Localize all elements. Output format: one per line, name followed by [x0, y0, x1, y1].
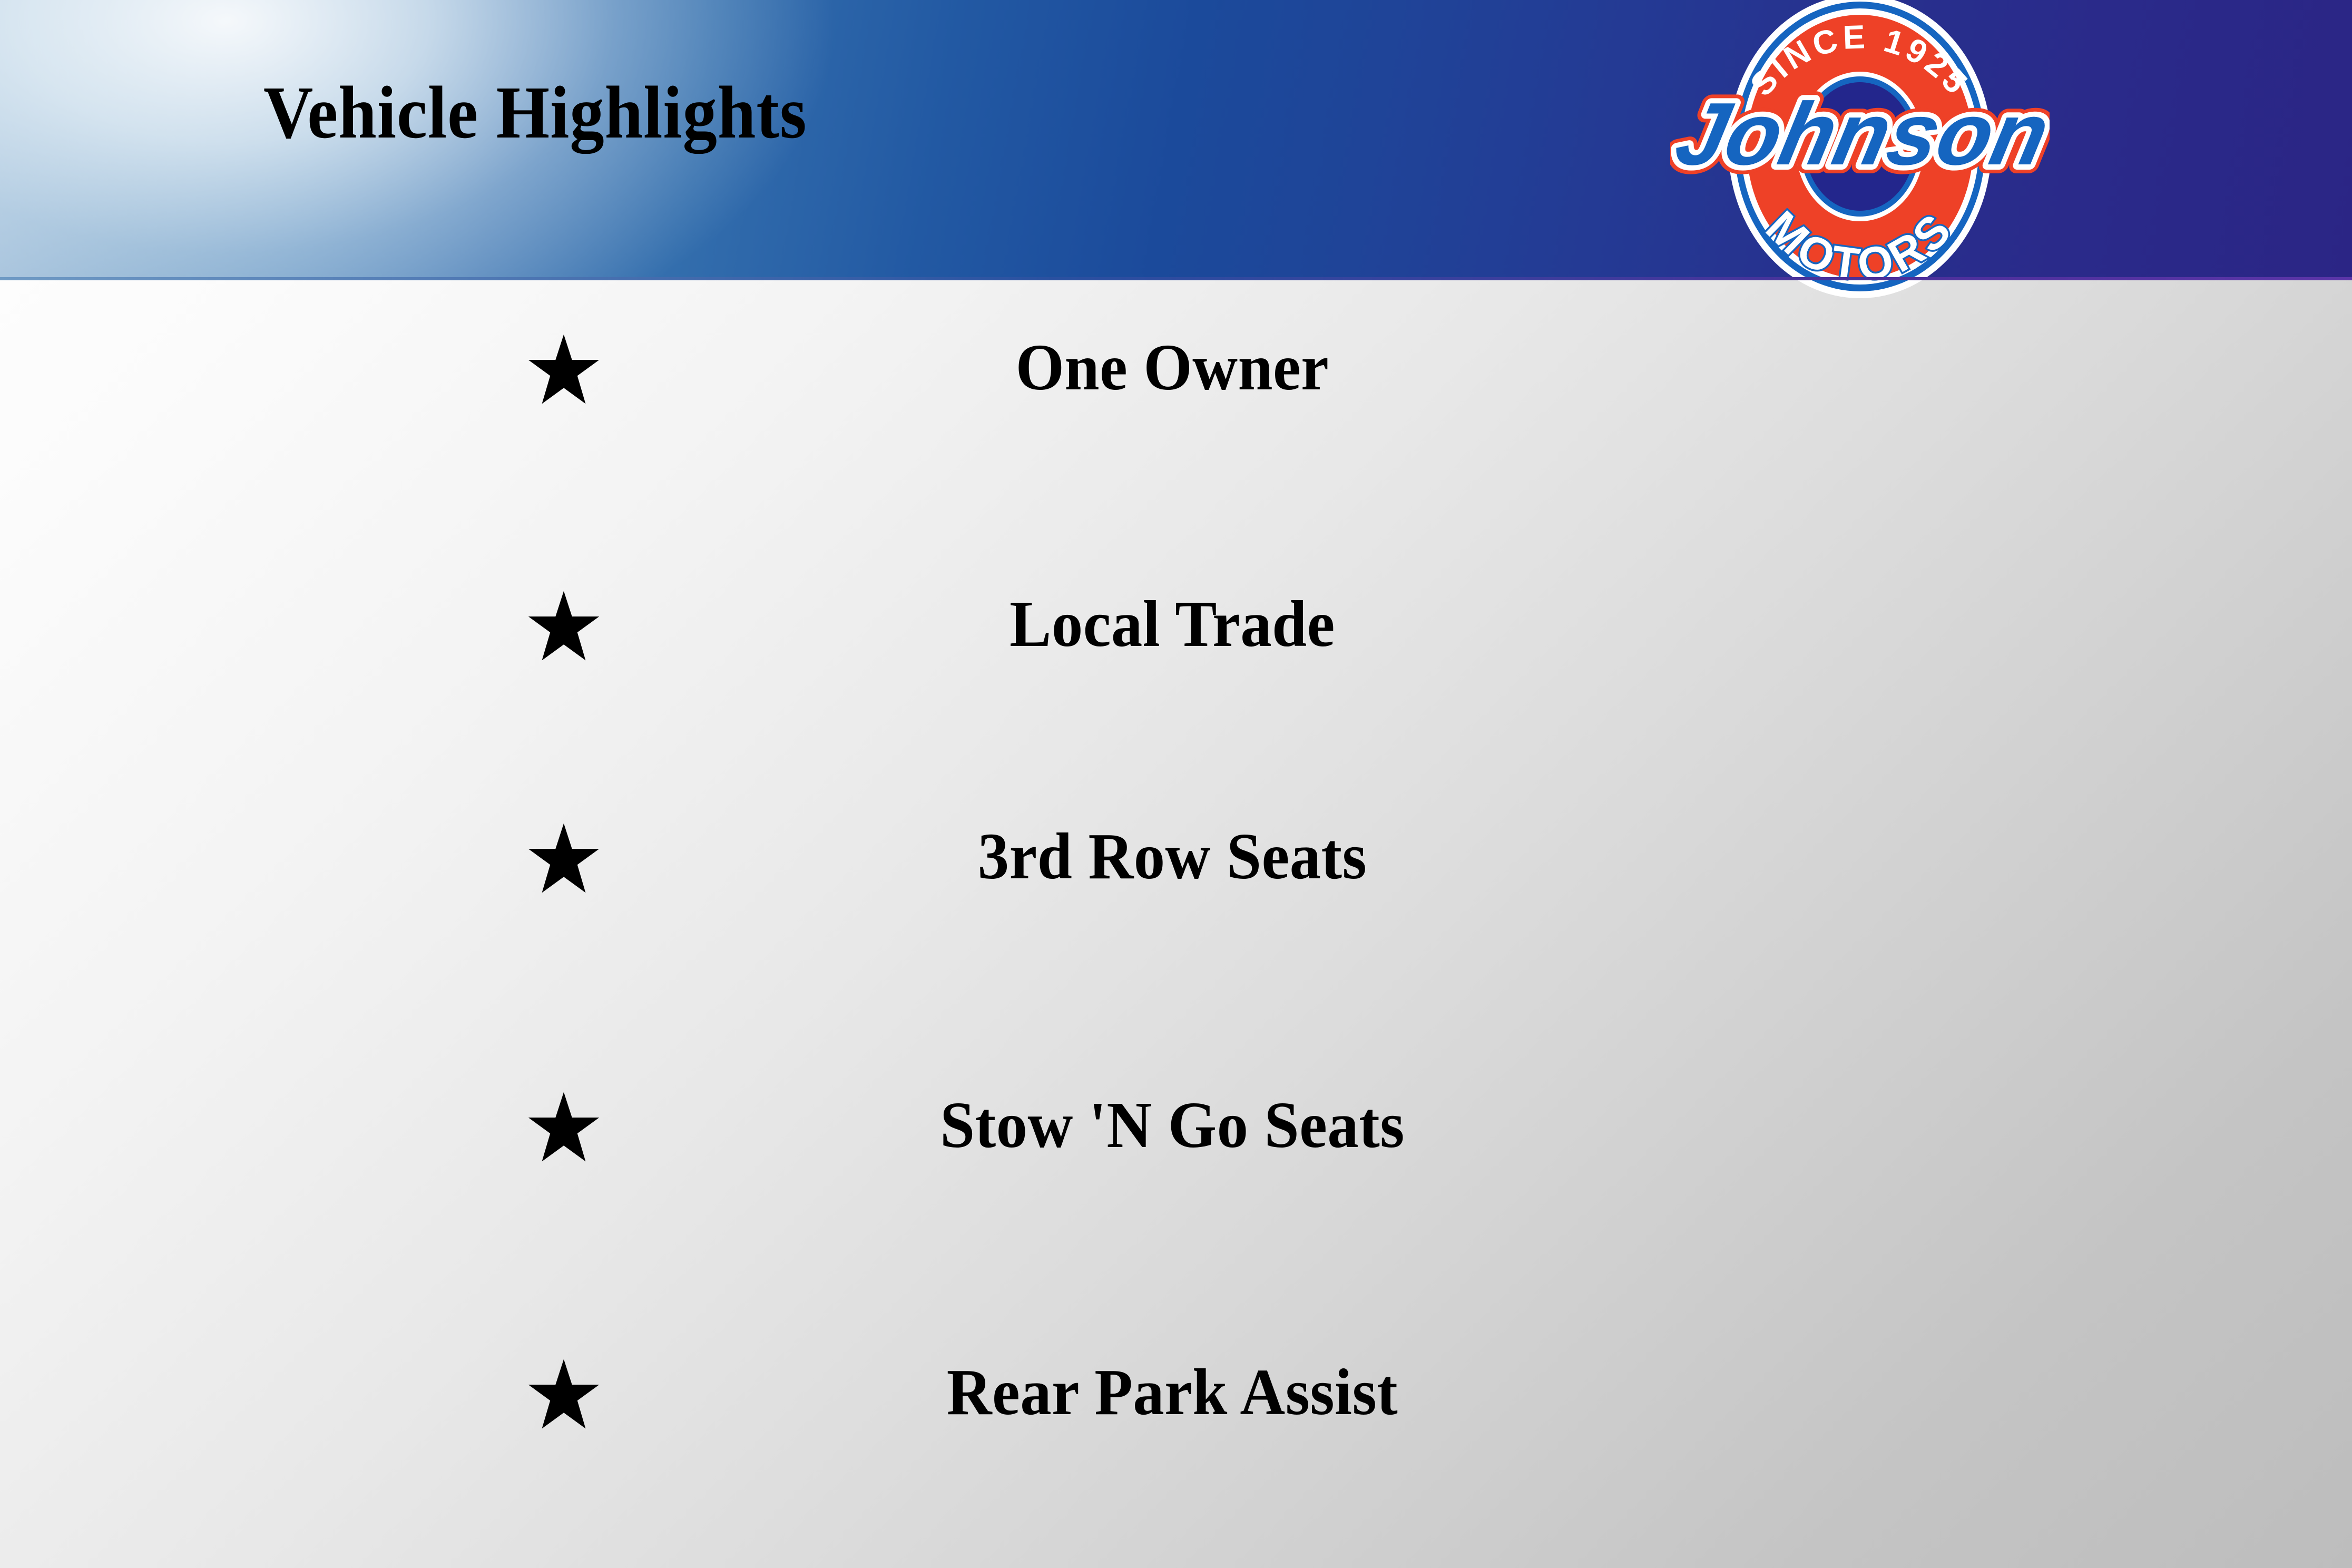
vehicle-highlights-list: One Owner Local Trade 3rd Row Seats Stow…: [0, 280, 2352, 1568]
svg-text:Johnson: Johnson: [1670, 84, 2050, 183]
star-icon: [527, 819, 601, 898]
johnson-motors-logo: SINCE 1925 MOTORS Johnson Johnson Johnso…: [1670, 0, 2050, 305]
page-title: Vehicle Highlights: [263, 75, 807, 150]
list-item-label: One Owner: [769, 328, 1575, 407]
list-item-label: Rear Park Assist: [769, 1353, 1575, 1432]
star-icon: [527, 587, 601, 666]
star-icon: [527, 330, 601, 409]
star-icon: [527, 1355, 601, 1434]
logo-johnson-wordmark: Johnson Johnson Johnson: [1670, 84, 2050, 183]
vehicle-highlights-slide: Vehicle Highlights: [0, 0, 2352, 1568]
list-item-label: 3rd Row Seats: [769, 817, 1575, 896]
list-item-label: Local Trade: [769, 585, 1575, 664]
star-icon: [527, 1088, 601, 1167]
header-band: Vehicle Highlights: [0, 0, 2352, 280]
list-item-label: Stow 'N Go Seats: [769, 1086, 1575, 1165]
